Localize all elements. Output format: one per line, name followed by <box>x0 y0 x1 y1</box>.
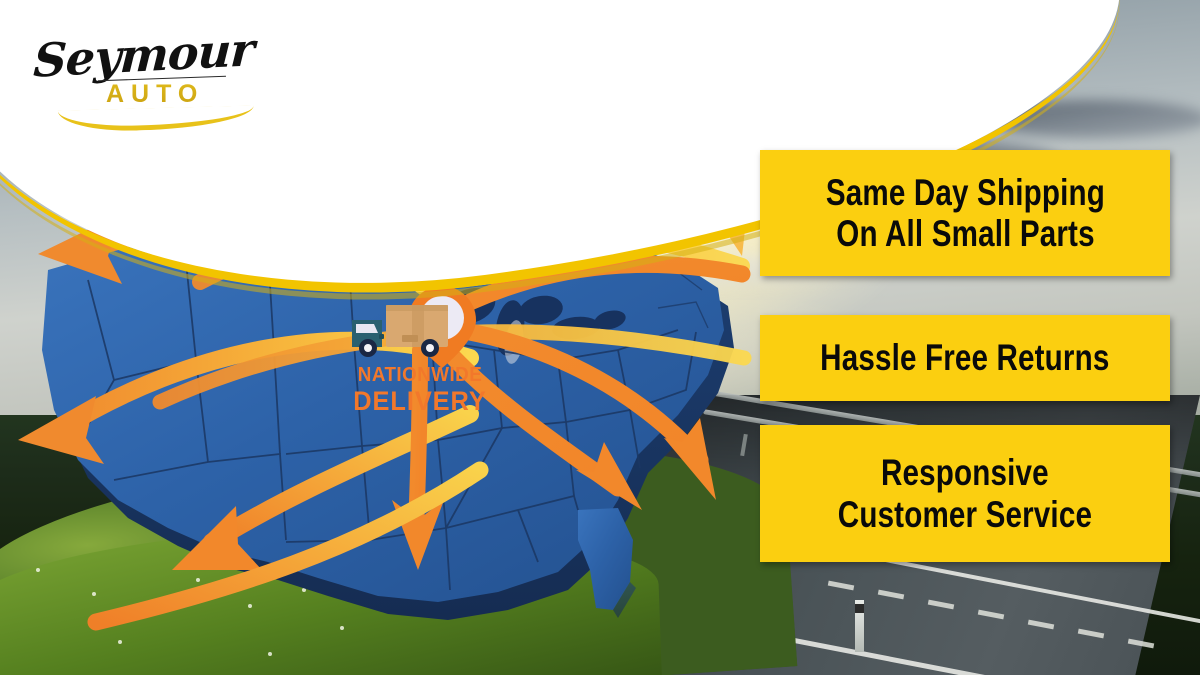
claim-line: On All Small Parts <box>836 213 1094 254</box>
logo-brand-sub: AUTO <box>106 80 204 109</box>
claim-line: Same Day Shipping <box>825 172 1104 213</box>
promo-banner: NATIONWIDE DELIVERY Seymour AUTO Same Da… <box>0 0 1200 675</box>
claim-box-responsive-customer-service[interactable]: Responsive Customer Service <box>760 425 1170 562</box>
nationwide-delivery-badge: NATIONWIDE DELIVERY <box>330 280 510 445</box>
claim-box-same-day-shipping[interactable]: Same Day Shipping On All Small Parts <box>760 150 1170 276</box>
claim-box-hassle-free-returns[interactable]: Hassle Free Returns <box>760 315 1170 401</box>
claim-line: Customer Service <box>838 494 1092 535</box>
claim-line: Hassle Free Returns <box>820 337 1109 378</box>
seymour-auto-logo[interactable]: Seymour AUTO <box>28 22 248 122</box>
claim-line: Responsive <box>881 452 1049 493</box>
delivery-truck-icon <box>352 305 448 357</box>
nationwide-label: NATIONWIDE <box>335 364 504 387</box>
roadside-marker <box>855 600 864 652</box>
delivery-label: DELIVERY <box>335 386 504 417</box>
